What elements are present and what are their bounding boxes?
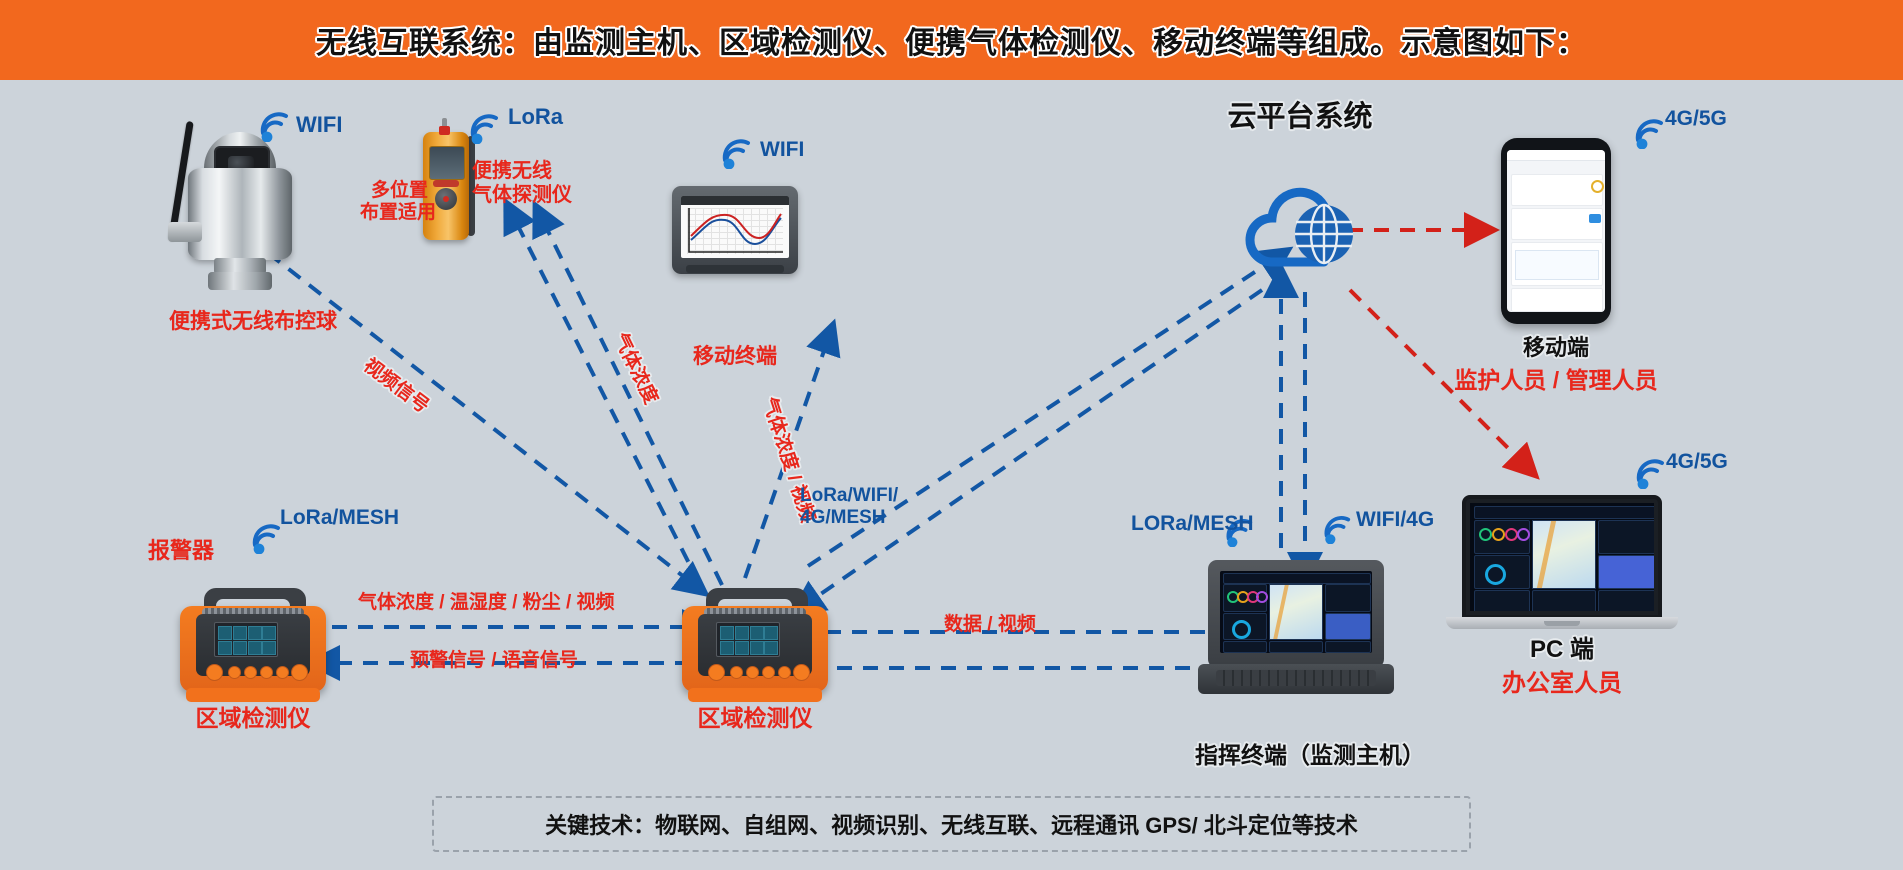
link-label-warning-voice: 预警信号 / 语音信号: [410, 650, 578, 672]
laptop-widget-gauges: [1474, 520, 1530, 554]
knob: [793, 664, 810, 681]
display-cell: [750, 641, 764, 655]
terminal-screen: [1220, 571, 1372, 653]
laptop-notch: [1544, 621, 1580, 626]
laptop-widget-panel-right: [1598, 590, 1654, 611]
phone-status-bar: [1507, 150, 1605, 161]
knob: [730, 666, 743, 679]
device-area-detector-center[interactable]: [682, 588, 828, 708]
device-label-handheld-line2: 气体探测仪: [472, 184, 572, 208]
detector-keypad: [435, 188, 457, 210]
knob: [708, 664, 725, 681]
area-detector-center-knobs: [708, 664, 804, 680]
display-cell: [248, 641, 262, 655]
wifi-icon-ball-camera: [256, 108, 290, 142]
link-label-lora-wifi-4g-mesh: LoRa/WIFI/ 4G/MESH: [800, 485, 898, 530]
device-area-detector-left[interactable]: [180, 588, 326, 708]
terminal-widget-table: [1269, 641, 1323, 653]
display-cell: [735, 626, 749, 640]
terminal-dial-ring: [1232, 620, 1251, 639]
signal-label-phone: 4G/5G: [1665, 107, 1727, 132]
wifi-icon-alarm: [248, 520, 282, 554]
camera-mount: [168, 222, 202, 242]
terminal-keyboard: [1216, 670, 1376, 686]
phone-card-4: [1511, 288, 1603, 312]
knob: [778, 666, 791, 679]
signal-label-terminal-left: LORa/MESH: [1131, 512, 1254, 537]
note-handheld-detector: 多位置 布置适用: [360, 180, 428, 225]
knob: [276, 666, 289, 679]
device-label-ball-camera: 便携式无线布控球: [148, 310, 358, 335]
terminal-widget-dial: [1223, 613, 1267, 640]
note-handheld-line2: 布置适用: [360, 202, 428, 224]
note-handheld-line1: 多位置: [360, 180, 428, 202]
signal-label-tablet: WIFI: [760, 138, 804, 163]
terminal-widget-bars: [1325, 584, 1371, 612]
laptop-widget-header: [1474, 506, 1654, 519]
device-mobile-tablet[interactable]: [672, 186, 798, 278]
display-cell: [720, 626, 734, 640]
diagram-canvas: 无线互联系统：由监测主机、区域检测仪、便携气体检测仪、移动终端等组成。示意图如下…: [0, 0, 1903, 870]
link-label-gas-concentration: 气体浓度: [608, 330, 661, 408]
tablet-bottom-ports: [686, 265, 784, 273]
knob: [228, 666, 241, 679]
laptop-widget-table: [1532, 590, 1596, 611]
device-command-terminal[interactable]: [1208, 560, 1404, 710]
wifi-icon-pc: [1632, 455, 1666, 489]
display-cell: [764, 626, 778, 640]
device-label-mobile-phone: 移动端: [1466, 335, 1646, 361]
device-pc-laptop[interactable]: [1462, 495, 1662, 635]
wifi-icon-terminal-right: [1320, 512, 1352, 544]
detector-button-bar: [433, 180, 459, 187]
phone-status-chip: [1589, 214, 1601, 223]
terminal-widget-panel-right: [1325, 641, 1371, 653]
wifi-icon-handheld-detector: [466, 110, 500, 144]
device-sublabel-pc: 办公室人员: [1452, 670, 1672, 698]
laptop-screen: [1470, 503, 1654, 611]
display-cell: [262, 641, 276, 655]
display-cell: [248, 626, 262, 640]
gauge-ring-2: [1492, 528, 1505, 541]
laptop-lid: [1462, 495, 1662, 619]
knob: [260, 666, 273, 679]
terminal-widget-gauges: [1223, 584, 1267, 612]
link-label-data-video: 数据 / 视频: [944, 614, 1036, 636]
display-cell: [750, 626, 764, 640]
link-label-video-signal: 视频信号: [359, 355, 433, 419]
area-detector-left-knobs: [206, 664, 302, 680]
terminal-gauge-4: [1256, 591, 1268, 603]
device-label-handheld-detector: 便携无线 气体探测仪: [472, 160, 572, 207]
device-label-handheld-line1: 便携无线: [472, 160, 572, 184]
device-label-command-terminal: 指挥终端（监测主机）: [1140, 742, 1480, 769]
header-banner: 无线互联系统：由监测主机、区域检测仪、便携气体检测仪、移动终端等组成。示意图如下…: [0, 0, 1903, 80]
dial-ring: [1485, 564, 1506, 585]
area-detector-center-display: [716, 622, 780, 657]
knob: [291, 664, 308, 681]
header-title: 无线互联系统：由监测主机、区域检测仪、便携气体检测仪、移动终端等组成。示意图如下…: [316, 18, 1587, 62]
device-label-area-detector-center: 区域检测仪: [650, 705, 860, 732]
key-technology-text: 关键技术：物联网、自组网、视频识别、无线互联、远程通讯 GPS/ 北斗定位等技术: [545, 808, 1358, 840]
device-sublabel-mobile-phone: 监护人员 / 管理人员: [1426, 367, 1686, 394]
device-ball-camera[interactable]: [150, 110, 340, 300]
display-cell: [764, 641, 778, 655]
device-mobile-phone[interactable]: [1501, 138, 1611, 324]
laptop-widget-video: [1598, 555, 1654, 589]
knob: [762, 666, 775, 679]
detector-probe-tip: [439, 126, 450, 135]
display-cell: [720, 641, 734, 655]
terminal-widget-header: [1223, 573, 1371, 584]
phone-card-2: [1511, 208, 1603, 240]
laptop-widget-dial: [1474, 555, 1530, 589]
terminal-lid: [1208, 560, 1384, 668]
area-detector-left-base: [186, 688, 320, 702]
gauge-ring-4: [1517, 528, 1530, 541]
phone-screen: [1507, 150, 1605, 312]
signal-label-pc: 4G/5G: [1666, 450, 1728, 475]
phone-card-1: [1511, 174, 1603, 206]
device-label-area-detector-left: 区域检测仪: [148, 705, 358, 732]
camera-body: [188, 168, 292, 260]
device-label-pc: PC 端: [1472, 636, 1652, 664]
link-label-gas-temp-dust-video: 气体浓度 / 温湿度 / 粉尘 / 视频: [358, 592, 615, 614]
display-cell: [218, 641, 232, 655]
signal-label-handheld-detector: LoRa: [508, 104, 563, 130]
link-label-lora-wifi-line1: LoRa/WIFI/: [800, 485, 898, 507]
area-detector-center-base: [688, 688, 822, 702]
laptop-widget-panel-left: [1474, 590, 1530, 611]
laptop-widget-map: [1532, 520, 1596, 589]
device-label-mobile-tablet: 移动终端: [660, 345, 810, 370]
area-detector-left-display: [214, 622, 278, 657]
signal-label-terminal-right: WIFI/4G: [1356, 508, 1434, 533]
signal-label-alarm: LoRa/MESH: [280, 506, 399, 531]
display-cell: [262, 626, 276, 640]
detector-screen: [429, 146, 465, 180]
wifi-icon-tablet: [718, 135, 752, 169]
display-cell: [735, 641, 749, 655]
knob: [206, 664, 223, 681]
phone-status-dot-warn: [1591, 180, 1604, 193]
terminal-widget-video: [1325, 613, 1371, 640]
phone-chart: [1515, 250, 1599, 280]
display-cell: [233, 641, 247, 655]
camera-base: [208, 272, 272, 290]
device-label-alarm: 报警器: [148, 538, 214, 564]
signal-label-ball-camera: WIFI: [296, 112, 342, 138]
cloud-globe-icon: [1228, 158, 1368, 278]
wifi-icon-phone: [1631, 115, 1665, 149]
link-label-lora-wifi-line2: 4G/MESH: [800, 507, 898, 529]
display-cell: [233, 626, 247, 640]
laptop-widget-bars: [1598, 520, 1654, 554]
display-cell: [218, 626, 232, 640]
knob: [244, 666, 257, 679]
terminal-widget-map: [1269, 584, 1323, 640]
key-technology-box: 关键技术：物联网、自组网、视频识别、无线互联、远程通讯 GPS/ 北斗定位等技术: [432, 796, 1471, 852]
terminal-widget-panel-left: [1223, 641, 1267, 653]
cloud-platform-title: 云平台系统: [1180, 100, 1420, 134]
knob: [746, 666, 759, 679]
tablet-screen: [681, 196, 789, 258]
gauge-ring-1: [1479, 528, 1492, 541]
